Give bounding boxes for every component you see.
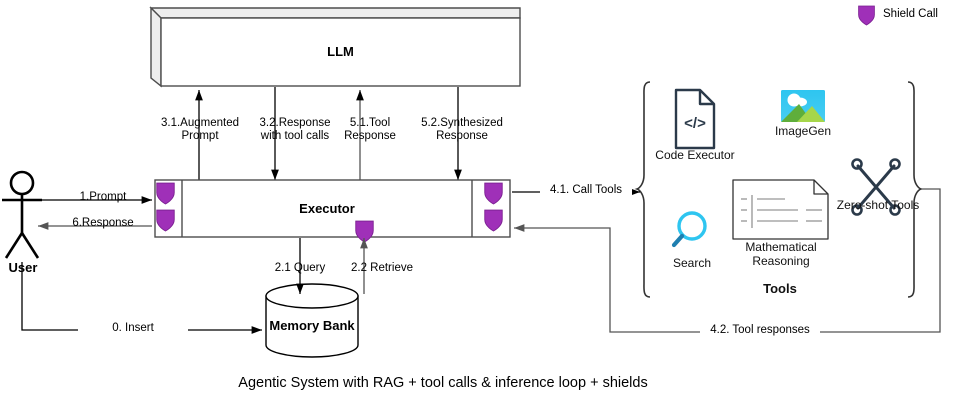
code-document-icon: </> [676, 90, 714, 148]
tool-label-math-reasoning: Mathematical Reasoning [731, 240, 831, 268]
llm-label: LLM [161, 44, 520, 59]
image-picture-icon [781, 90, 825, 122]
edge-label-tool-response: 5.1.Tool Response [327, 117, 413, 143]
user-figure [2, 172, 42, 258]
svg-text:</>: </> [684, 115, 706, 132]
tool-label-zero-shot-tools: Zero-shot Tools [836, 198, 920, 212]
edge-label-call-tools: 4.1. Call Tools [540, 184, 632, 197]
diagram-canvas: </> [0, 0, 970, 411]
tool-label-imagegen: ImageGen [763, 124, 843, 138]
tool-label-search: Search [658, 256, 726, 270]
legend-shield-icon [859, 6, 875, 25]
tools-group-brace-left [637, 82, 650, 297]
tools-group-brace-right [908, 82, 921, 297]
edge-label-prompt: 1.Prompt [58, 191, 148, 204]
diagram-vector-layer: </> [0, 0, 970, 411]
math-document-icon [733, 180, 828, 239]
edge-label-retrieve: 2.2 Retrieve [336, 262, 428, 275]
edge-label-query: 2.1 Query [256, 262, 344, 275]
tool-label-code-executor: Code Executor [648, 148, 742, 162]
user-label: User [0, 260, 46, 275]
edge-insert [22, 262, 262, 330]
edge-label-response: 6.Response [58, 217, 148, 230]
tools-group-label: Tools [735, 282, 825, 296]
executor-label: Executor [182, 201, 472, 216]
diagram-caption: Agentic System with RAG + tool calls & i… [0, 375, 886, 391]
edge-label-insert: 0. Insert [78, 322, 188, 335]
legend-shield-label: Shield Call [883, 8, 938, 20]
magnifier-icon [674, 213, 705, 245]
edge-label-synthesized-response: 5.2.Synthesized Response [404, 117, 520, 143]
edge-label-tool-responses: 4.2. Tool responses [700, 324, 820, 337]
memory-bank-label: Memory Bank [258, 318, 366, 333]
